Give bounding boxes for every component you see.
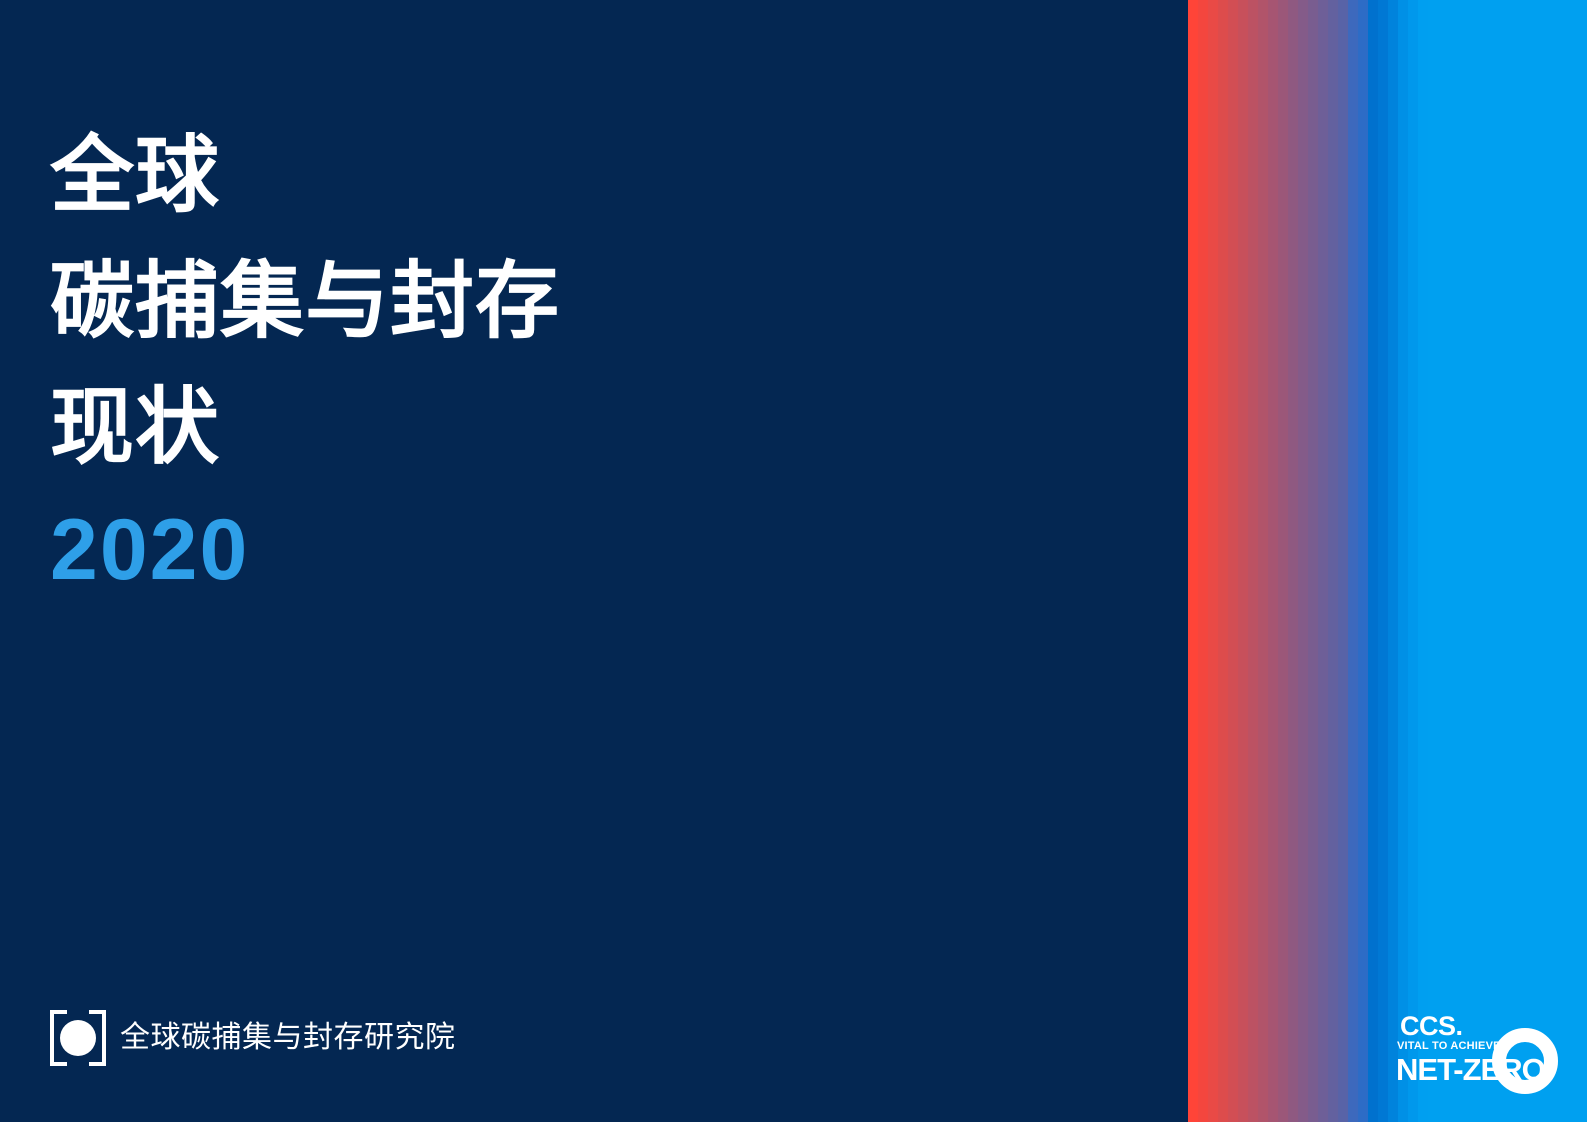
title-year: 2020 <box>50 496 1050 604</box>
ccs-net-zero-logo: CCS. VITAL TO ACHIEVE NET-ZERO <box>1395 1014 1560 1100</box>
gradient-stripe-23 <box>1418 0 1428 1122</box>
gradient-stripe-10 <box>1288 0 1298 1122</box>
net-zero-line-netzero: NET-ZERO <box>1395 1054 1560 1086</box>
gradient-stripe-7 <box>1258 0 1268 1122</box>
gradient-stripe-5 <box>1238 0 1248 1122</box>
gradient-stripe-9 <box>1278 0 1288 1122</box>
gradient-stripe-18 <box>1368 0 1378 1122</box>
gradient-stripe-11 <box>1298 0 1308 1122</box>
gradient-stripe-14 <box>1328 0 1338 1122</box>
cover-title-block: 全球 碳捕集与封存 现状 2020 <box>50 112 1050 604</box>
gradient-stripes <box>1188 0 1428 1122</box>
color-band-strip <box>1188 0 1587 1122</box>
net-zero-line-ccs: CCS. <box>1395 1014 1560 1039</box>
gradient-stripe-17 <box>1358 0 1368 1122</box>
solid-blue-band <box>1428 0 1587 1122</box>
bracket-circle-mark-icon <box>50 1010 106 1066</box>
gradient-stripe-12 <box>1308 0 1318 1122</box>
gradient-stripe-4 <box>1228 0 1238 1122</box>
gradient-stripe-3 <box>1218 0 1228 1122</box>
gradient-stripe-6 <box>1248 0 1258 1122</box>
gradient-stripe-22 <box>1408 0 1418 1122</box>
institute-logo: 全球碳捕集与封存研究院 <box>50 1010 456 1066</box>
title-line-1: 全球 <box>50 112 1050 238</box>
gradient-stripe-15 <box>1338 0 1348 1122</box>
title-line-3: 现状 <box>50 364 1050 490</box>
gradient-stripe-1 <box>1198 0 1208 1122</box>
gradient-stripe-19 <box>1378 0 1388 1122</box>
gradient-stripe-2 <box>1208 0 1218 1122</box>
gradient-stripe-21 <box>1398 0 1408 1122</box>
gradient-stripe-16 <box>1348 0 1358 1122</box>
net-zero-text-lockup: CCS. VITAL TO ACHIEVE NET-ZERO <box>1395 1014 1560 1086</box>
report-cover-slide: 全球 碳捕集与封存 现状 2020 全球碳捕集与封存研究院 CCS. VITAL… <box>0 0 1587 1122</box>
gradient-stripe-13 <box>1318 0 1328 1122</box>
institute-name: 全球碳捕集与封存研究院 <box>120 1021 456 1055</box>
mark-circle <box>60 1020 96 1056</box>
gradient-stripe-20 <box>1388 0 1398 1122</box>
title-line-2: 碳捕集与封存 <box>50 238 1050 364</box>
gradient-stripe-0 <box>1188 0 1198 1122</box>
gradient-stripe-8 <box>1268 0 1278 1122</box>
